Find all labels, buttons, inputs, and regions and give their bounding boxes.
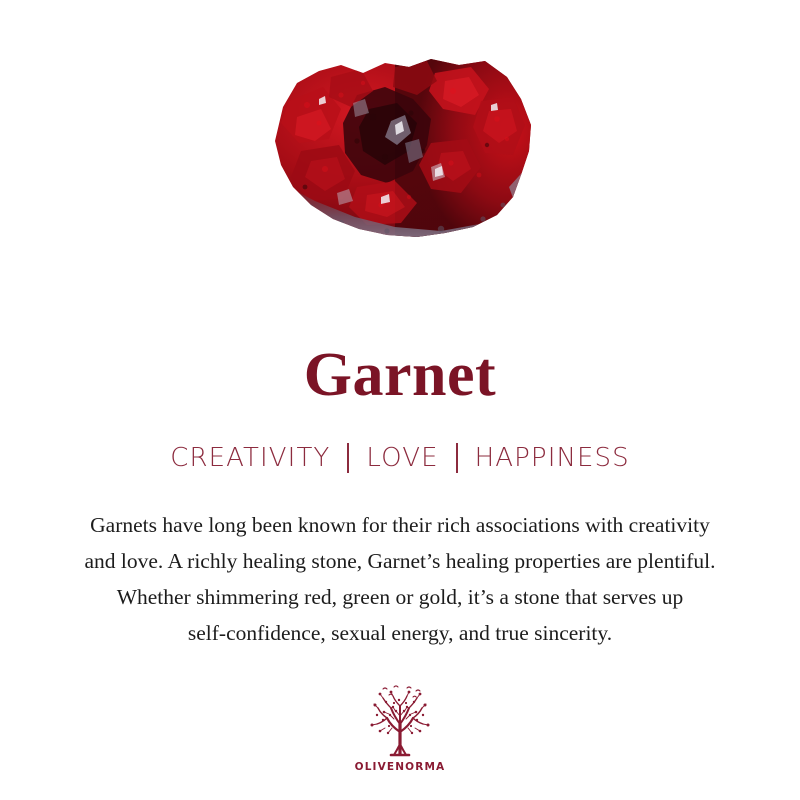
- keyword-list: CREATIVITY LOVE HAPPINESS: [170, 443, 630, 473]
- keyword-happiness: HAPPINESS: [475, 445, 630, 471]
- description-paragraph: Garnets have long been known for their r…: [10, 507, 790, 651]
- brand-wordmark: OLIVENORMA: [355, 762, 446, 773]
- description-line: Whether shimmering red, green or gold, i…: [10, 579, 790, 615]
- keyword-love: LOVE: [366, 445, 438, 471]
- page-title: Garnet: [304, 344, 496, 406]
- description-line: Garnets have long been known for their r…: [10, 507, 790, 543]
- description-line: and love. A richly healing stone, Garnet…: [10, 543, 790, 579]
- keyword-separator-icon: [456, 443, 458, 473]
- garnet-info-card: Garnet CREATIVITY LOVE HAPPINESS Garnets…: [0, 0, 800, 800]
- hero-image-area: [0, 0, 800, 300]
- keyword-separator-icon: [347, 443, 349, 473]
- description-line: self-confidence, sexual energy, and true…: [10, 615, 790, 651]
- garnet-crystal-image: [245, 47, 555, 257]
- brand-logo: OLIVENORMA: [346, 684, 454, 773]
- keyword-creativity: CREATIVITY: [170, 445, 330, 471]
- tree-of-life-icon: [363, 684, 437, 760]
